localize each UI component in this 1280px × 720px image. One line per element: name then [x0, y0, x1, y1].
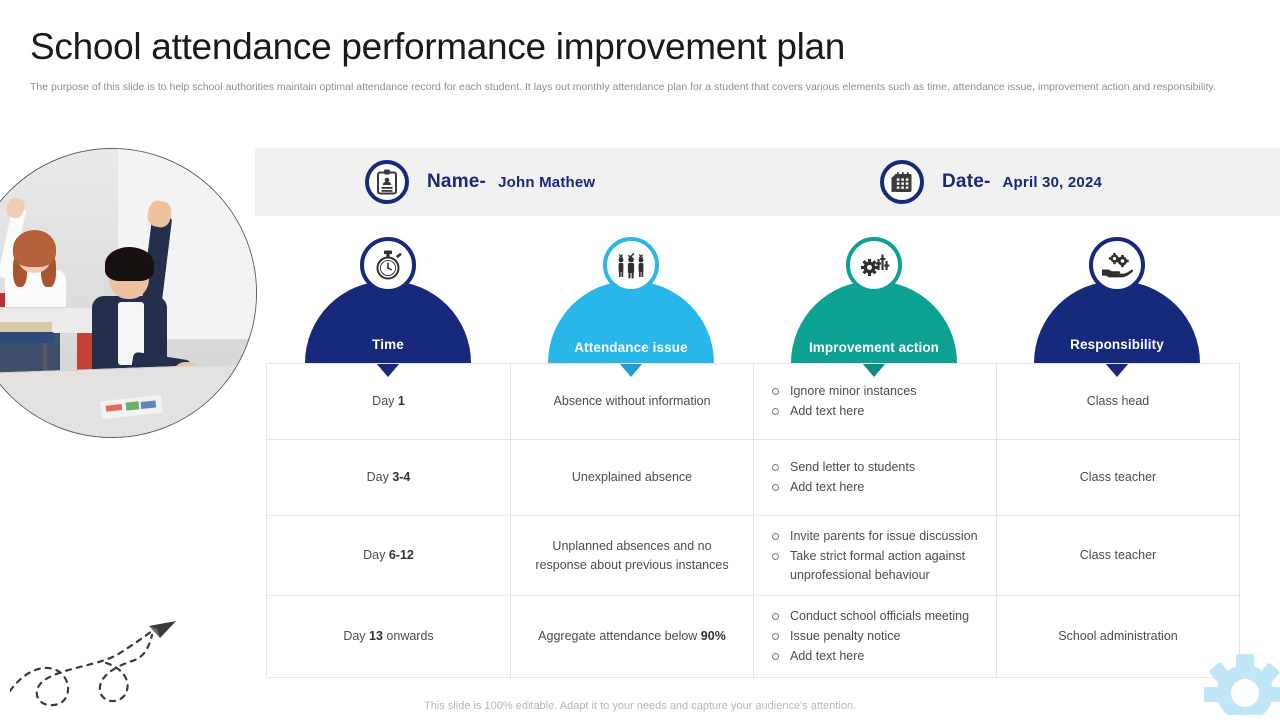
stopwatch-icon	[360, 237, 416, 293]
cell-time: Day 1	[267, 364, 511, 440]
cell-time: Day 6-12	[267, 516, 511, 596]
list-item: Conduct school officials meeting	[770, 607, 982, 626]
slide-root: School attendance performance improvemen…	[0, 0, 1280, 720]
list-item: Add text here	[770, 478, 982, 497]
list-item: Send letter to students	[770, 458, 982, 477]
name-value: John Mathew	[498, 174, 595, 191]
time-bold: 6-12	[389, 548, 414, 562]
id-badge-icon	[365, 160, 409, 204]
cell-issue: Unexplained absence	[511, 440, 754, 516]
issue-prefix: Unplanned absences and no response about…	[535, 539, 728, 572]
date-value: April 30, 2024	[1003, 174, 1103, 191]
list-item: Issue penalty notice	[770, 627, 982, 646]
date-field: Date- April 30, 2024	[880, 160, 1102, 204]
page-title: School attendance performance improvemen…	[30, 26, 845, 68]
table-row: Day 13 onwards Aggregate attendance belo…	[267, 596, 1240, 677]
cell-time: Day 13 onwards	[267, 596, 511, 677]
cell-actions: Send letter to students Add text here	[754, 440, 997, 516]
page-subtitle: The purpose of this slide is to help sch…	[30, 80, 1255, 95]
info-band: Name- John Mathew	[255, 148, 1280, 216]
paper-plane-dashed-trail-icon	[10, 605, 180, 715]
people-attendance-icon	[603, 237, 659, 293]
list-item: Add text here	[770, 647, 982, 666]
action-list: Conduct school officials meeting Issue p…	[768, 607, 982, 665]
cell-actions: Invite parents for issue discussion Take…	[754, 516, 997, 596]
column-label-improvement-action: Improvement action	[791, 340, 957, 356]
action-list: Send letter to students Add text here	[768, 458, 982, 497]
time-bold: 3-4	[392, 470, 410, 484]
column-header-responsibility[interactable]: Responsibility	[1034, 281, 1200, 363]
cell-responsibility: Class teacher	[997, 516, 1240, 596]
cell-issue: Absence without information	[511, 364, 754, 440]
gear-chart-icon	[846, 237, 902, 293]
column-label-time: Time	[305, 337, 471, 353]
time-prefix: Day	[372, 394, 398, 408]
list-item: Add text here	[770, 402, 982, 421]
issue-prefix: Unexplained absence	[572, 470, 692, 484]
issue-prefix: Absence without information	[553, 394, 710, 408]
cell-actions: Conduct school officials meeting Issue p…	[754, 596, 997, 677]
issue-bold: 90%	[701, 629, 726, 643]
time-suffix: onwards	[383, 629, 434, 643]
list-item: Ignore minor instances	[770, 382, 982, 401]
cell-time: Day 3-4	[267, 440, 511, 516]
column-label-attendance-issue: Attendance issue	[548, 340, 714, 356]
action-list: Invite parents for issue discussion Take…	[768, 527, 982, 584]
list-item: Take strict formal action against unprof…	[770, 547, 982, 585]
table-body: Day 1 Absence without information Ignore…	[267, 364, 1240, 678]
column-header-attendance-issue[interactable]: Attendance issue	[548, 281, 714, 363]
column-label-responsibility: Responsibility	[1034, 337, 1200, 353]
date-label: Date-	[942, 171, 991, 193]
table-row: Day 6-12 Unplanned absences and no respo…	[267, 516, 1240, 596]
time-bold: 13	[369, 629, 383, 643]
column-header-improvement-action[interactable]: Improvement action	[791, 281, 957, 363]
cell-responsibility: Class teacher	[997, 440, 1240, 516]
cell-issue: Aggregate attendance below 90%	[511, 596, 754, 677]
table-row: Day 3-4 Unexplained absence Send letter …	[267, 440, 1240, 516]
column-header-time[interactable]: Time	[305, 281, 471, 363]
name-field: Name- John Mathew	[365, 160, 595, 204]
time-prefix: Day	[367, 470, 393, 484]
name-label: Name-	[427, 171, 486, 193]
calendar-icon	[880, 160, 924, 204]
list-item: Invite parents for issue discussion	[770, 527, 982, 546]
time-prefix: Day	[363, 548, 389, 562]
cell-issue: Unplanned absences and no response about…	[511, 516, 754, 596]
time-bold: 1	[398, 394, 405, 408]
cell-actions: Ignore minor instances Add text here	[754, 364, 997, 440]
classroom-photo	[0, 148, 257, 438]
action-list: Ignore minor instances Add text here	[768, 382, 982, 421]
hand-gears-icon	[1089, 237, 1145, 293]
footer-note: This slide is 100% editable. Adapt it to…	[0, 700, 1280, 712]
time-prefix: Day	[343, 629, 369, 643]
issue-prefix: Aggregate attendance below	[538, 629, 701, 643]
table-row: Day 1 Absence without information Ignore…	[267, 364, 1240, 440]
attendance-plan-table: Day 1 Absence without information Ignore…	[266, 363, 1240, 678]
cell-responsibility: Class head	[997, 364, 1240, 440]
